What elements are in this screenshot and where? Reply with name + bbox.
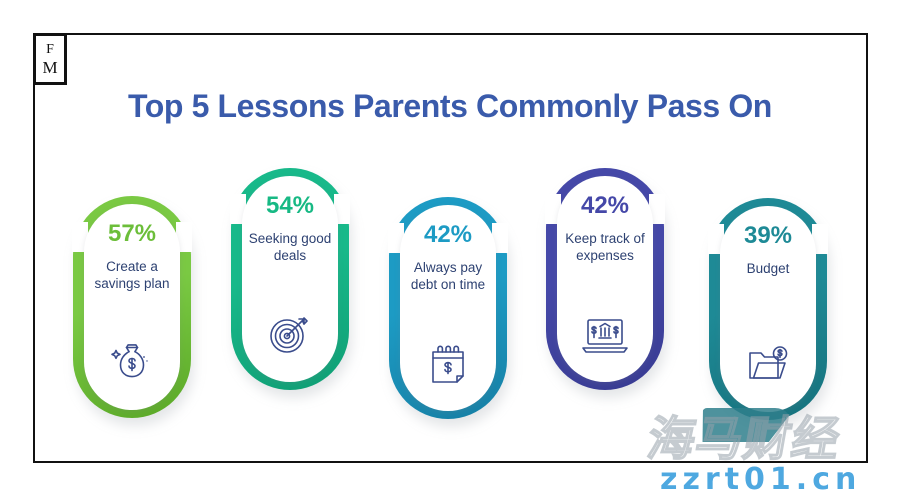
card-percentage: 42% bbox=[424, 223, 472, 247]
target-icon bbox=[242, 312, 338, 356]
card-body: 39%Budget bbox=[720, 206, 816, 412]
card-body: 42%Keep track of expenses bbox=[557, 176, 653, 382]
money-bag-icon bbox=[84, 338, 180, 384]
card-label: Seeking good deals bbox=[244, 230, 336, 264]
card-body: 57%Create a savings plan bbox=[84, 204, 180, 410]
card-percentage: 39% bbox=[744, 224, 792, 248]
card-percentage: 54% bbox=[266, 194, 314, 218]
calendar-dollar-icon bbox=[400, 341, 496, 385]
infographic-canvas: F M Top 5 Lessons Parents Commonly Pass … bbox=[0, 0, 900, 499]
watermark-brand-cn: 海马财经 bbox=[643, 412, 900, 468]
folder-dollar-icon bbox=[720, 344, 816, 386]
card-label: Always pay debt on time bbox=[402, 259, 494, 293]
card-label: Keep track of expenses bbox=[559, 230, 651, 264]
card-body: 54%Seeking good deals bbox=[242, 176, 338, 382]
laptop-bank-icon bbox=[557, 314, 653, 356]
card-percentage: 57% bbox=[108, 222, 156, 246]
card-body: 42%Always pay debt on time bbox=[400, 205, 496, 411]
card-label: Budget bbox=[722, 260, 814, 277]
watermark-url: zzrt01.cn bbox=[660, 462, 900, 497]
card-percentage: 42% bbox=[581, 194, 629, 218]
card-label: Create a savings plan bbox=[86, 258, 178, 292]
